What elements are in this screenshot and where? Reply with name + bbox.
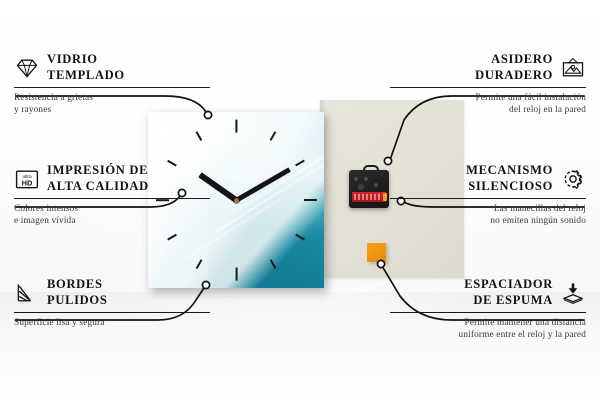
feature-heading: ASIDERO DURADERO [390, 52, 586, 84]
clock-tick [235, 119, 237, 132]
feature-title-line1: BORDES [47, 277, 107, 293]
feature-divider [14, 198, 210, 199]
feature-title-line2: ALTA CALIDAD [47, 179, 149, 195]
feature-title-line2: TEMPLADO [47, 68, 125, 84]
feature-divider [14, 312, 210, 313]
feature-title-line2: PULIDOS [47, 293, 107, 309]
feature-divider [390, 198, 586, 199]
clock-tick [304, 199, 317, 201]
feature-title: ESPACIADOR DE ESPUMA [464, 277, 553, 309]
feature-desc-line1: Colores intensos [14, 203, 210, 215]
feature-description: Superficie lisa y segura [14, 317, 210, 329]
feature-divider [14, 87, 210, 88]
feature-description: Colores intensos e imagen vívida [14, 203, 210, 228]
feature-desc-line1: Permite una fácil instalación [390, 92, 586, 104]
feature-divider [390, 312, 586, 313]
feature-desc-line1: Permite mantener una distancia [390, 317, 586, 329]
clock-tick [235, 267, 237, 280]
feature-description: Las manecillas del reloj no emiten ningú… [390, 203, 586, 228]
infographic-canvas: VIDRIO TEMPLADO Resistencia a grietas y … [0, 0, 600, 400]
arrow-onto-pad-icon [560, 281, 586, 305]
feature-vidrio-templado: VIDRIO TEMPLADO Resistencia a grietas y … [14, 52, 210, 117]
diamond-icon [14, 56, 40, 80]
picture-hanger-icon [560, 56, 586, 80]
feature-desc-line1: Las manecillas del reloj [390, 203, 586, 215]
feature-title: MECANISMO SILENCIOSO [466, 163, 553, 195]
feature-heading: ESPACIADOR DE ESPUMA [390, 277, 586, 309]
battery-label-texture [354, 194, 382, 200]
feature-title-line1: VIDRIO [47, 52, 125, 68]
feature-title-line1: ASIDERO [475, 52, 553, 68]
feature-desc-line2: no emiten ningún sonido [390, 215, 586, 227]
gear-icon [560, 167, 586, 191]
feature-title-line1: ESPACIADOR [464, 277, 553, 293]
feature-divider [390, 87, 586, 88]
feature-impresion-alta-calidad: ultra HD IMPRESIÓN DE ALTA CALIDAD Color… [14, 163, 210, 228]
feature-title-line2: SILENCIOSO [466, 179, 553, 195]
feature-desc-line2: uniforme entre el reloj y la pared [390, 329, 586, 341]
feature-title: IMPRESIÓN DE ALTA CALIDAD [47, 163, 149, 195]
clock-center-hub [234, 198, 239, 203]
feature-title-line2: DURADERO [475, 68, 553, 84]
feature-heading: ultra HD IMPRESIÓN DE ALTA CALIDAD [14, 163, 210, 195]
feature-desc-line2: y rayones [14, 104, 210, 116]
feature-desc-line1: Resistencia a grietas [14, 92, 210, 104]
feature-espaciador-de-espuma: ESPACIADOR DE ESPUMA Permite mantener un… [390, 277, 586, 342]
feature-description: Permite mantener una distancia uniforme … [390, 317, 586, 342]
feature-heading: MECANISMO SILENCIOSO [390, 163, 586, 195]
svg-text:HD: HD [22, 178, 33, 187]
feature-title-line1: IMPRESIÓN DE [47, 163, 149, 179]
feature-heading: BORDES PULIDOS [14, 277, 210, 309]
feature-title: VIDRIO TEMPLADO [47, 52, 125, 84]
feature-desc-line2: e imagen vívida [14, 215, 210, 227]
foam-spacer-pad [367, 243, 386, 262]
battery-positive-tip [383, 193, 387, 201]
feature-asidero-duradero: ASIDERO DURADERO Permite una fácil insta… [390, 52, 586, 117]
mechanism-details [352, 175, 384, 191]
feature-title-line1: MECANISMO [466, 163, 553, 179]
feature-title: ASIDERO DURADERO [475, 52, 553, 84]
ultra-hd-icon: ultra HD [14, 167, 40, 191]
feature-title: BORDES PULIDOS [47, 277, 107, 309]
feature-desc-line1: Superficie lisa y segura [14, 317, 210, 329]
feature-mecanismo-silencioso: MECANISMO SILENCIOSO Las manecillas del … [390, 163, 586, 228]
feature-description: Permite una fácil instalación del reloj … [390, 92, 586, 117]
feature-heading: VIDRIO TEMPLADO [14, 52, 210, 84]
feature-bordes-pulidos: BORDES PULIDOS Superficie lisa y segura [14, 277, 210, 329]
feature-title-line2: DE ESPUMA [464, 293, 553, 309]
feature-description: Resistencia a grietas y rayones [14, 92, 210, 117]
diagonal-lines-icon [14, 281, 40, 305]
feature-desc-line2: del reloj en la pared [390, 104, 586, 116]
